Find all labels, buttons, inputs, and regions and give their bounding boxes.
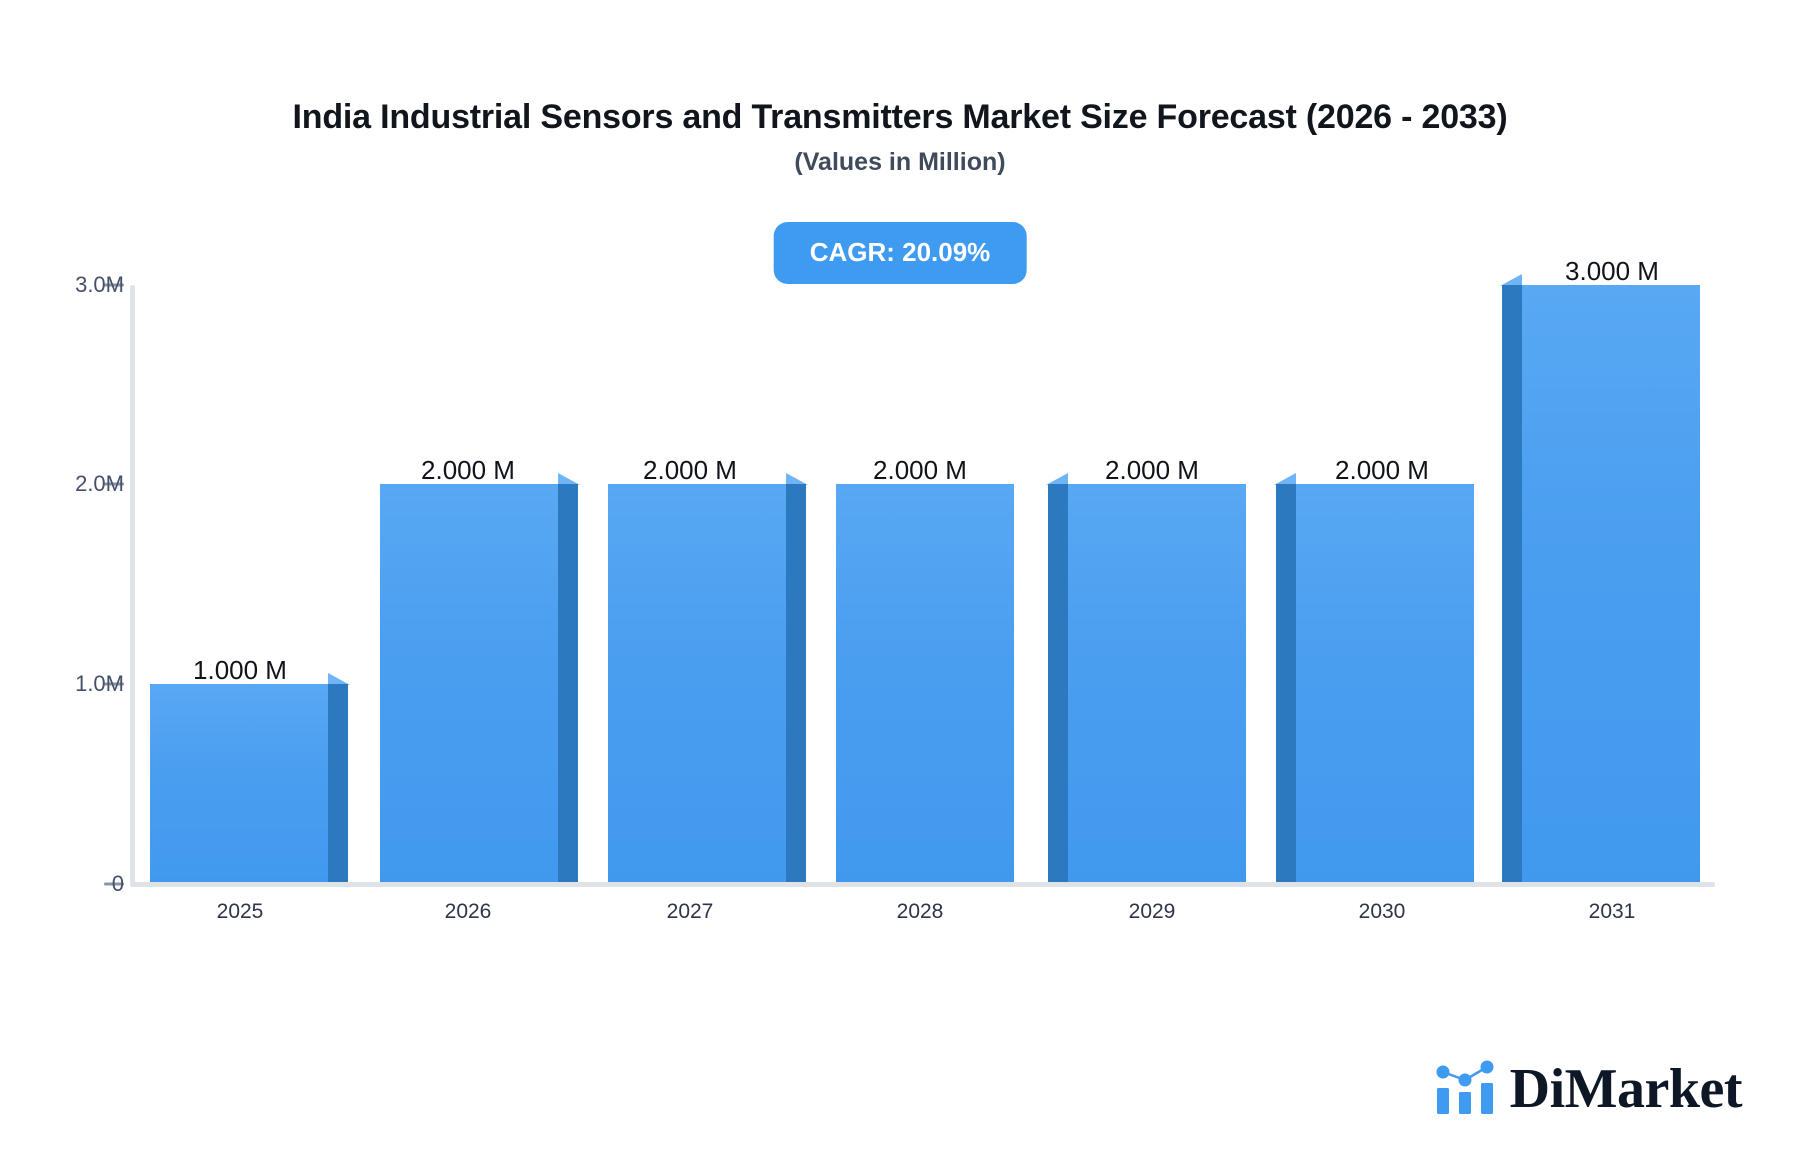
x-tick-2027: 2027 [667, 900, 714, 924]
x-axis-line [130, 882, 1715, 887]
bar-front-2028 [836, 484, 1014, 882]
plot-area: 3.0M 2.0M 1.0M 0 1.000 M 2.000 M 2.000 M [0, 0, 1800, 1156]
bar-label-2030: 2.000 M [1335, 455, 1429, 486]
y-tick-label-1: 1.0M [0, 671, 124, 697]
x-tick-2031: 2031 [1589, 900, 1636, 924]
bar-front-2025 [150, 684, 328, 882]
bar-2028[interactable] [836, 484, 1014, 882]
bar-side-2031 [1502, 285, 1522, 882]
bar-2027[interactable] [608, 484, 786, 882]
bar-side-2026 [558, 484, 578, 882]
y-axis-line [130, 285, 135, 886]
bar-2029[interactable] [1068, 484, 1246, 882]
y-tick-label-3: 3.0M [0, 272, 124, 298]
y-tick-label-0: 0 [0, 871, 124, 897]
bar-side-2029 [1048, 484, 1068, 882]
bar-label-2025: 1.000 M [193, 655, 287, 686]
bar-2025[interactable] [150, 684, 328, 882]
bar-front-2029 [1068, 484, 1246, 882]
y-tick-label-2: 2.0M [0, 471, 124, 497]
x-tick-2028: 2028 [897, 900, 944, 924]
bar-front-2030 [1296, 484, 1474, 882]
bar-2030[interactable] [1296, 484, 1474, 882]
bar-2026[interactable] [380, 484, 558, 882]
bar-side-2027 [786, 484, 806, 882]
x-tick-2029: 2029 [1129, 900, 1176, 924]
bar-label-2027: 2.000 M [643, 455, 737, 486]
x-tick-2026: 2026 [445, 900, 492, 924]
bar-label-2028: 2.000 M [873, 455, 967, 486]
bar-2031[interactable] [1522, 285, 1700, 882]
x-tick-2030: 2030 [1359, 900, 1406, 924]
bar-label-2029: 2.000 M [1105, 455, 1199, 486]
bar-chart-trend-icon [1434, 1058, 1496, 1116]
bar-front-2031 [1522, 285, 1700, 882]
bar-front-2026 [380, 484, 558, 882]
bar-front-2027 [608, 484, 786, 882]
logo-text: DiMarket [1510, 1064, 1742, 1116]
brand-logo: DiMarket [1434, 1058, 1742, 1116]
chart-canvas: India Industrial Sensors and Transmitter… [0, 0, 1800, 1156]
bar-label-2031: 3.000 M [1565, 256, 1659, 287]
bar-side-2030 [1276, 484, 1296, 882]
bar-label-2026: 2.000 M [421, 455, 515, 486]
bar-side-2025 [328, 684, 348, 882]
x-tick-2025: 2025 [217, 900, 264, 924]
